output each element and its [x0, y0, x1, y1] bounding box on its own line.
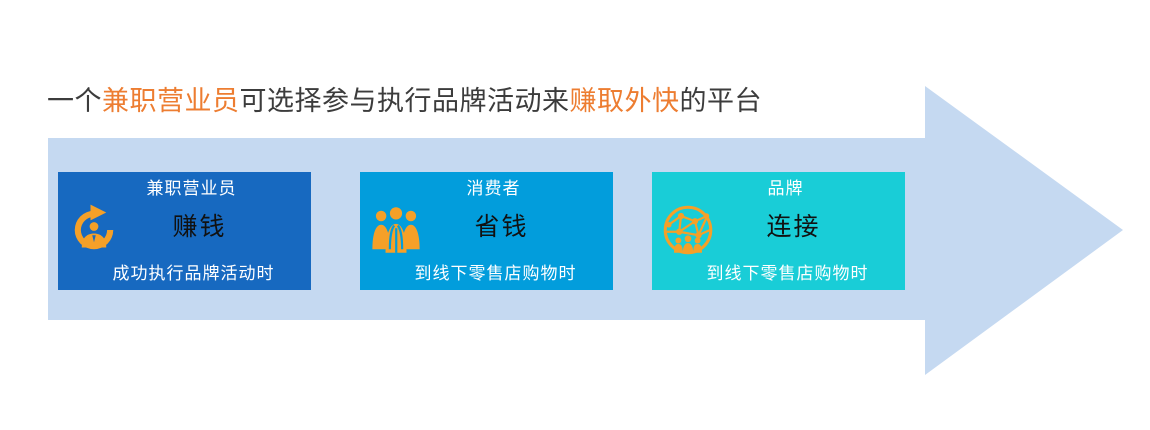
title-segment-2-highlight: 兼职营业员 — [102, 86, 240, 116]
card-footer-label: 到线下零售店购物时 — [360, 263, 613, 285]
card-header-label: 品牌 — [652, 178, 905, 200]
slide-canvas: 一个兼职营业员可选择参与执行品牌活动来赚取外快的平台 兼职营业员 赚钱 成功执行… — [0, 0, 1150, 430]
page-title: 一个兼职营业员可选择参与执行品牌活动来赚取外快的平台 — [47, 84, 762, 118]
card-header-label: 兼职营业员 — [58, 178, 311, 200]
card-main-label: 连接 — [652, 212, 905, 244]
card-part-time-clerk[interactable]: 兼职营业员 赚钱 成功执行品牌活动时 — [58, 172, 311, 290]
card-header-label: 消费者 — [360, 178, 613, 200]
card-brand[interactable]: 品牌 连接 — [652, 172, 905, 290]
card-footer-label: 成功执行品牌活动时 — [58, 263, 311, 285]
card-footer-label: 到线下零售店购物时 — [652, 263, 905, 285]
title-segment-1: 一个 — [47, 86, 102, 116]
card-main-label: 省钱 — [360, 212, 613, 244]
title-segment-5: 的平台 — [680, 86, 763, 116]
card-main-label: 赚钱 — [58, 212, 311, 244]
title-segment-4-highlight: 赚取外快 — [570, 86, 680, 116]
card-consumer[interactable]: 消费者 省钱 到线下零售店购物时 — [360, 172, 613, 290]
title-segment-3: 可选择参与执行品牌活动来 — [240, 86, 570, 116]
